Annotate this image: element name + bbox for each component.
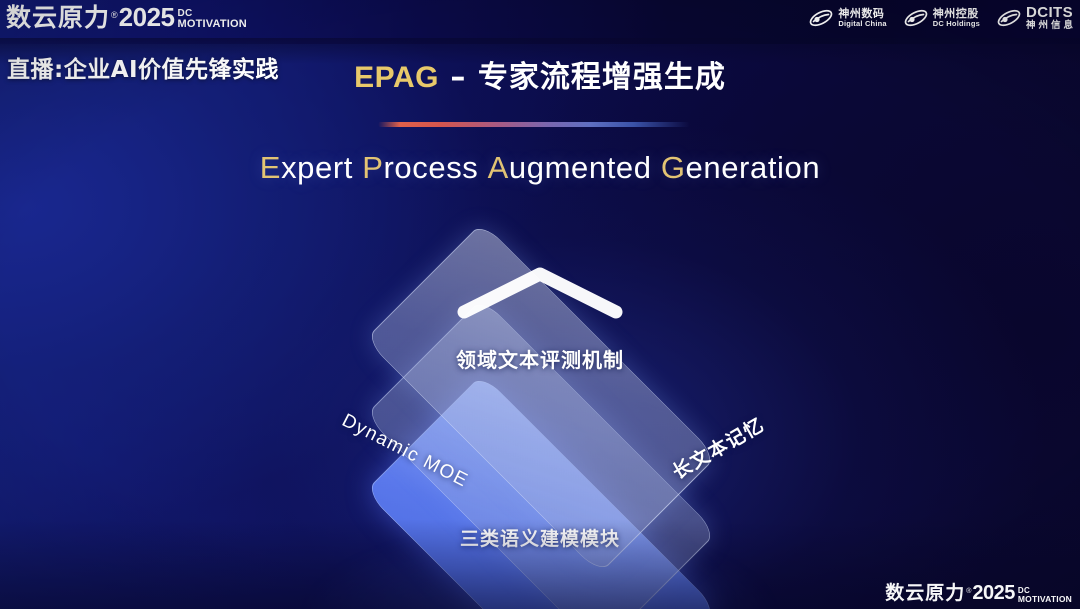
partner-logo-dc-holdings: 神州控股 DC Holdings	[903, 7, 980, 29]
brand-name-cn: 数云原力	[6, 5, 110, 30]
slide-title: EPAG – 专家流程增强生成	[0, 52, 1080, 96]
brand-registered-mark: ®	[111, 11, 118, 20]
partner-logo-digital-china: 神州数码 Digital China	[808, 7, 886, 29]
subtitle-cap-a: A	[488, 150, 509, 185]
diagram-label-top: 领域文本评测机制	[280, 344, 800, 373]
subtitle-cap-g: G	[661, 150, 686, 185]
brand-motivation-label: MOTIVATION	[178, 19, 247, 30]
subtitle-cap-p: P	[362, 150, 383, 185]
partner-name-en: DCITS	[1026, 5, 1076, 21]
partner-logo-dcits: DCITS 神州信息	[996, 5, 1076, 31]
brand-year: 2025	[119, 4, 175, 30]
brand-watermark-bottom-right: 数云原力 ® 2025 DC MOTIVATION	[885, 583, 1072, 603]
swirl-logo-icon	[996, 7, 1022, 29]
watermark-dc-motivation: DC MOTIVATION	[1018, 587, 1072, 604]
brand-logo-top-left: 数云原力 ® 2025 DC MOTIVATION	[6, 4, 247, 30]
title-chinese: – 专家流程增强生成	[439, 60, 726, 95]
partner-name-cn: 神州信息	[1026, 21, 1076, 31]
presentation-slide: 数云原力 ® 2025 DC MOTIVATION 直播:企业AI价值先锋实践 …	[0, 0, 1080, 609]
partner-name-cn: 神州数码	[838, 8, 886, 20]
subtitle-cap-e: E	[260, 150, 281, 185]
slide-subtitle: Expert Process Augmented Generation	[0, 150, 1080, 186]
subtitle-rest-expert: xpert	[281, 150, 353, 185]
subtitle-rest-augmented: ugmented	[509, 150, 652, 185]
watermark-registered-mark: ®	[966, 588, 971, 595]
partner-name-en: DC Holdings	[933, 20, 980, 28]
diagram-label-bottom: 三类语义建模模块	[280, 524, 800, 551]
watermark-motivation-label: MOTIVATION	[1018, 595, 1072, 604]
subtitle-rest-generation: eneration	[686, 150, 821, 185]
watermark-name-cn: 数云原力	[885, 584, 965, 603]
title-acronym: EPAG	[354, 61, 439, 94]
swirl-logo-icon	[808, 7, 834, 29]
watermark-year: 2025	[972, 583, 1015, 603]
partner-name-cn: 神州控股	[933, 8, 980, 20]
subtitle-rest-process: rocess	[384, 150, 479, 185]
partner-name-en: Digital China	[838, 20, 886, 28]
chevron-up-icon	[450, 260, 630, 324]
partner-logo-group: 神州数码 Digital China 神州控股 DC Holdings	[808, 5, 1076, 31]
brand-dc-motivation: DC MOTIVATION	[178, 9, 247, 30]
layered-architecture-diagram: 领域文本评测机制 Dynamic MOE 长文本记忆 三类语义建模模块	[280, 232, 800, 572]
swirl-logo-icon	[903, 7, 929, 29]
title-divider	[378, 122, 690, 127]
